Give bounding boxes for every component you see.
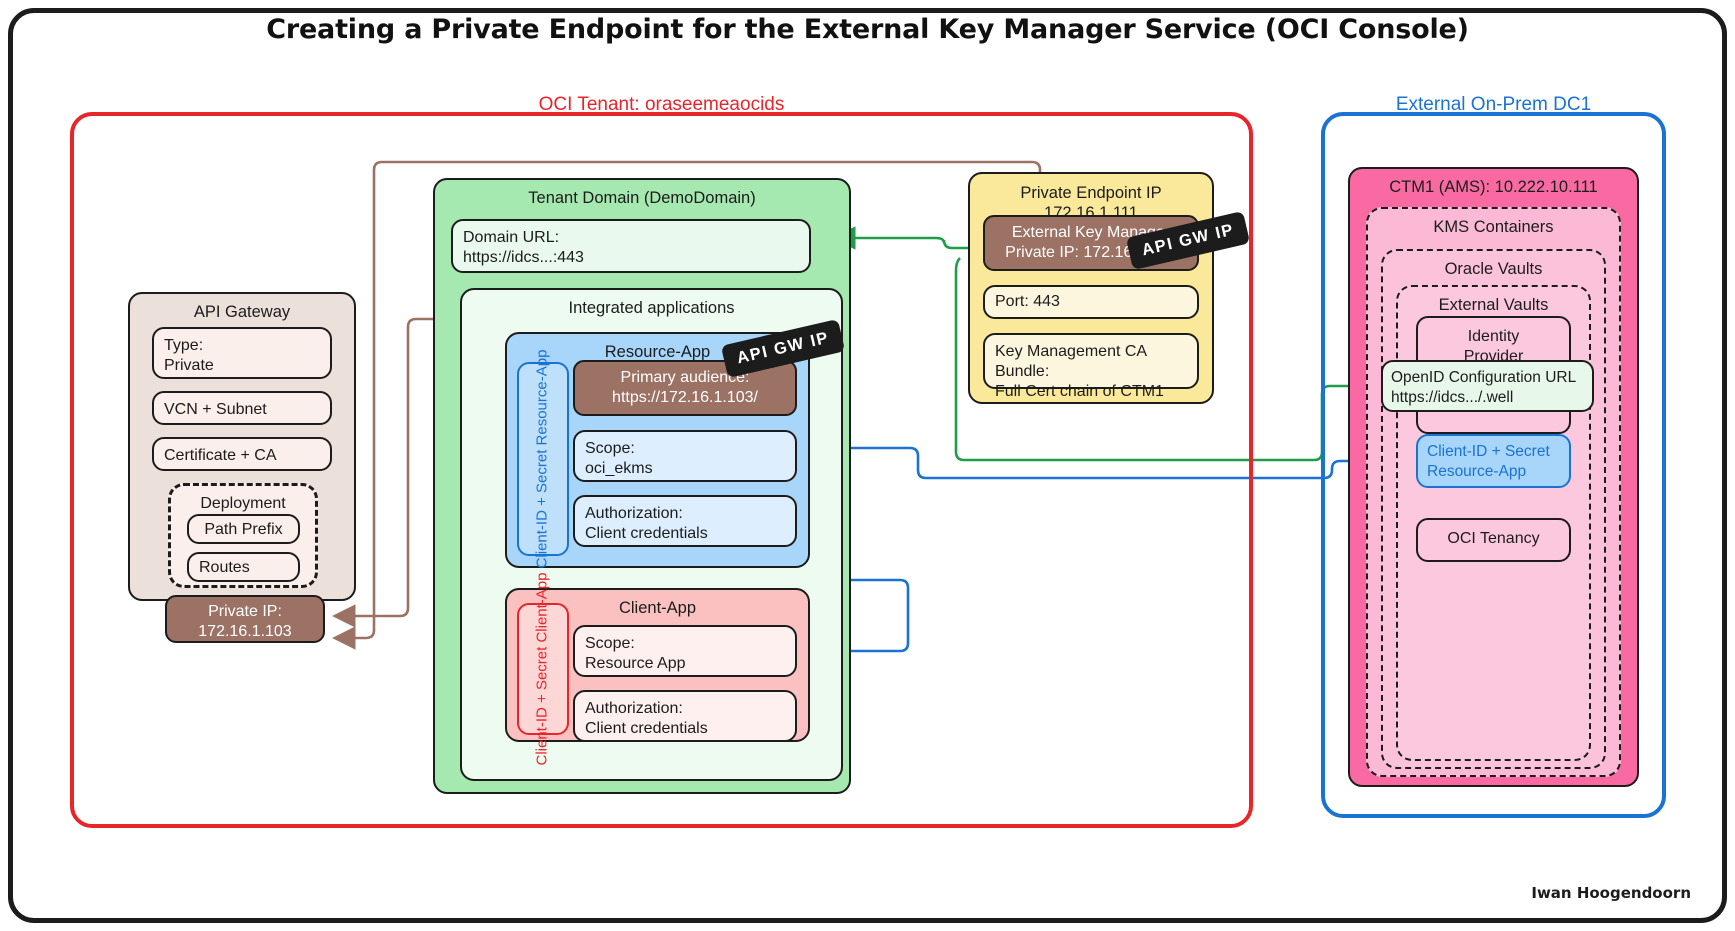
zone-oci-tenant-label: OCI Tenant: oraseemeaocids [74,94,1249,116]
oracle-vaults-title: Oracle Vaults [1383,260,1604,279]
client-app-scope[interactable]: Scope: Resource App [573,625,797,677]
api-gateway-certificate-ca[interactable]: Certificate + CA [152,437,332,471]
external-vaults-title: External Vaults [1398,296,1589,315]
client-app-authorization[interactable]: Authorization: Client credentials [573,690,797,742]
dc-client-id-secret-resource-app[interactable]: Client-ID + Secret Resource-App [1416,434,1571,488]
deployment-title: Deployment [171,495,315,513]
page-title: Creating a Private Endpoint for the Exte… [0,14,1735,45]
deployment-routes[interactable]: Routes [187,552,300,582]
resource-app-client-id-secret-label: Client-ID + Secret Resource-App [534,350,553,569]
ctm1-title: CTM1 (AMS): 10.222.10.111 [1350,178,1637,197]
deployment-path-prefix[interactable]: Path Prefix [187,514,300,544]
zone-dc1-label: External On-Prem DC1 [1325,94,1662,116]
diagram-canvas: Creating a Private Endpoint for the Exte… [0,0,1735,931]
oci-tenancy[interactable]: OCI Tenancy [1416,518,1571,562]
api-gateway-title: API Gateway [130,303,354,322]
api-gateway-private-ip[interactable]: Private IP: 172.16.1.103 [165,595,325,643]
private-endpoint-port[interactable]: Port: 443 [983,285,1199,319]
tenant-domain-title: Tenant Domain (DemoDomain) [435,189,849,208]
client-app-client-id-secret-label: Client-ID + Secret Client-App [534,573,553,766]
integrated-applications-title: Integrated applications [462,299,841,318]
client-app-client-id-secret[interactable]: Client-ID + Secret Client-App [517,603,569,735]
kms-containers-title: KMS Containers [1368,218,1619,237]
resource-app-authorization[interactable]: Authorization: Client credentials [573,495,797,547]
api-gateway-type[interactable]: Type: Private [152,327,332,379]
resource-app-client-id-secret[interactable]: Client-ID + Secret Resource-App [517,362,569,556]
key-management-ca-bundle[interactable]: Key Management CA Bundle: Full Cert chai… [983,333,1199,389]
resource-app-scope[interactable]: Scope: oci_ekms [573,430,797,482]
openid-configuration-url[interactable]: OpenID Configuration URL https://idcs...… [1381,360,1594,412]
tenant-domain-url[interactable]: Domain URL: https://idcs...:443 [451,219,811,273]
api-gateway-vcn-subnet[interactable]: VCN + Subnet [152,391,332,425]
author-signature: Iwan Hoogendoorn [1531,884,1691,902]
